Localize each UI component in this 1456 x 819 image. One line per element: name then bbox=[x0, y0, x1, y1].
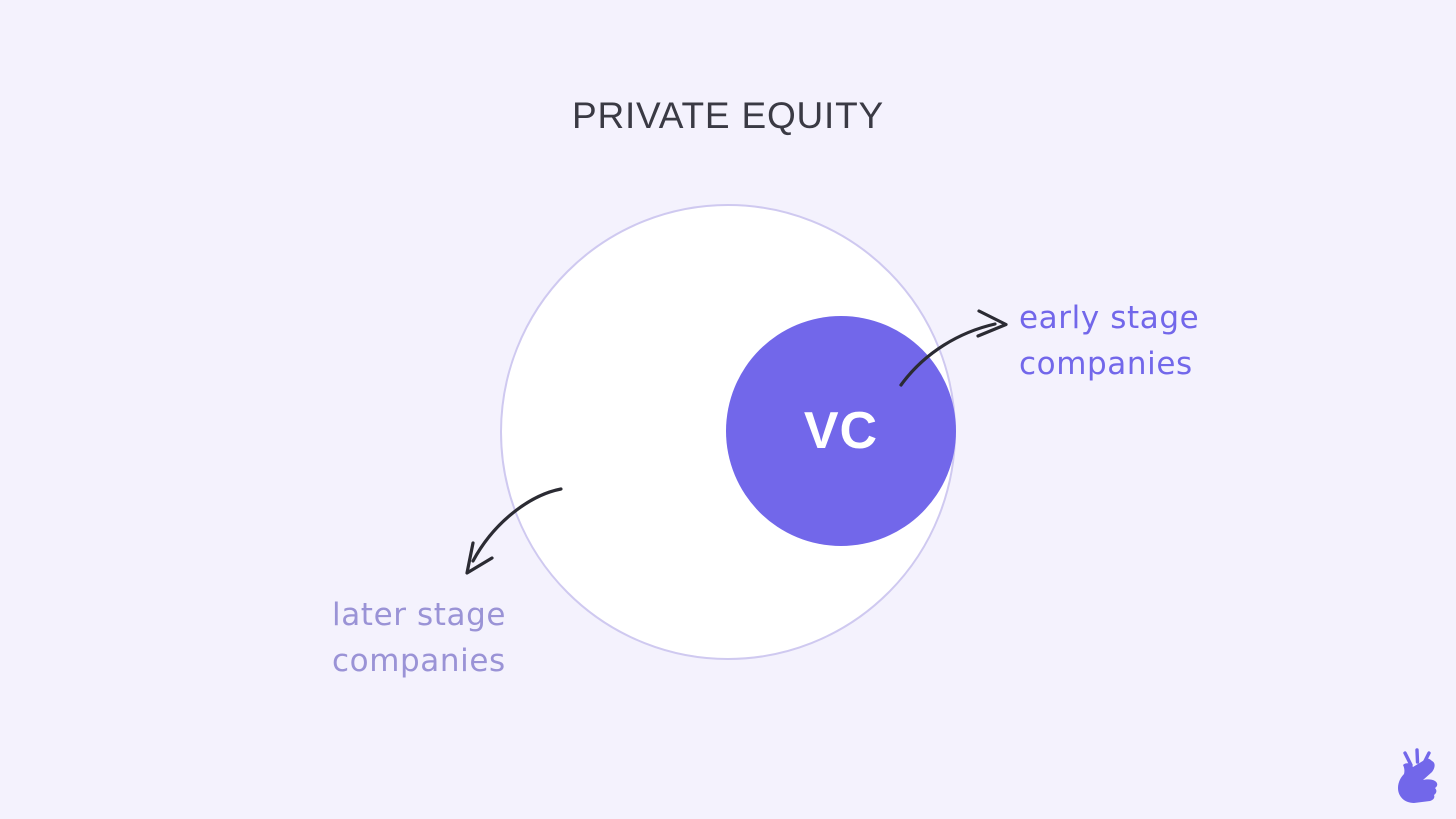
venture-capital-label: VC bbox=[804, 405, 878, 457]
annotation-early-stage: early stage companies bbox=[1019, 295, 1199, 387]
snapping-fingers-logo bbox=[1392, 748, 1448, 806]
annotation-later-stage-line2: companies bbox=[332, 638, 506, 684]
annotation-later-stage-line1: later stage bbox=[332, 592, 506, 638]
annotation-early-stage-line1: early stage bbox=[1019, 295, 1199, 341]
page-title: PRIVATE EQUITY bbox=[0, 95, 1456, 137]
venture-capital-circle: VC bbox=[726, 316, 956, 546]
annotation-later-stage: later stage companies bbox=[332, 592, 506, 684]
annotation-early-stage-line2: companies bbox=[1019, 341, 1199, 387]
slide-canvas: PRIVATE EQUITY VC early stage companies … bbox=[0, 0, 1456, 819]
